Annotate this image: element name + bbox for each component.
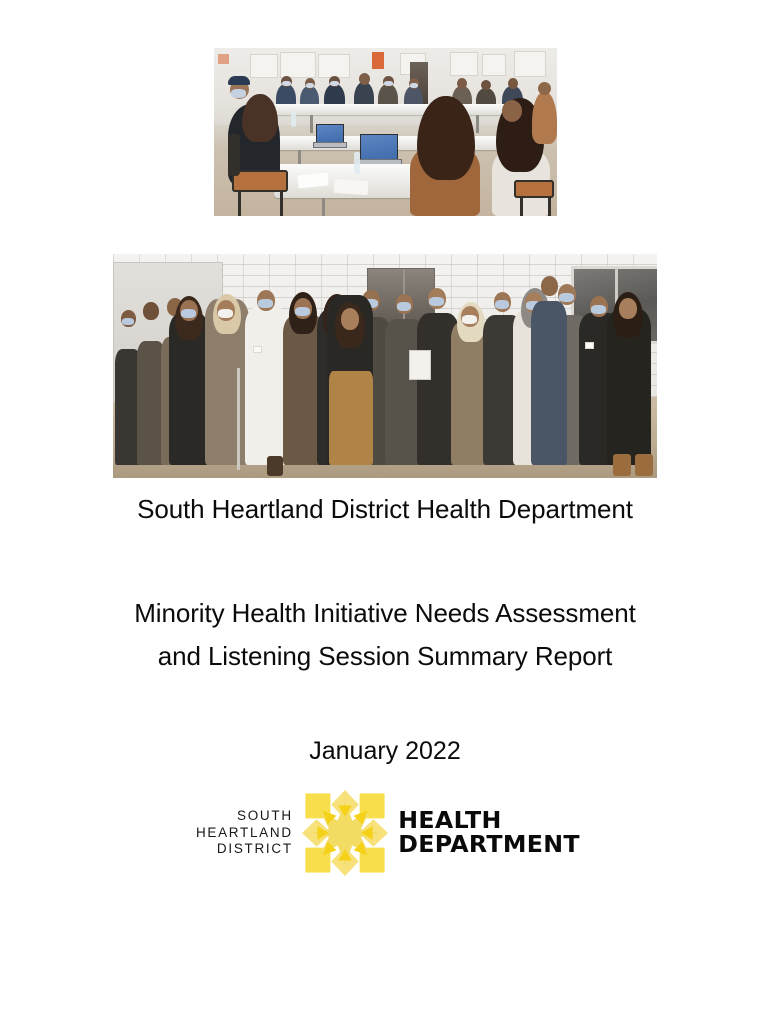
participant-head bbox=[457, 78, 467, 89]
organization-logo: SOUTH HEARTLAND DISTRICT bbox=[0, 786, 770, 880]
wall-poster bbox=[372, 52, 384, 69]
paper bbox=[334, 179, 369, 195]
participant-head bbox=[341, 308, 359, 330]
participant-head bbox=[143, 302, 159, 320]
south-heartland-starburst-logo-icon bbox=[302, 789, 388, 877]
page-title: South Heartland District Health Departme… bbox=[0, 492, 770, 526]
laptop-screen bbox=[360, 134, 398, 161]
participant-head bbox=[538, 82, 551, 95]
face-mask bbox=[181, 309, 196, 318]
cap bbox=[228, 76, 250, 85]
whiteboard bbox=[482, 54, 506, 76]
participant-head bbox=[619, 298, 637, 319]
name-badge bbox=[253, 346, 262, 353]
chair-back bbox=[228, 134, 240, 176]
report-title-line-1: Minority Health Initiative Needs Assessm… bbox=[0, 592, 770, 635]
face-mask bbox=[410, 83, 418, 88]
report-title: Minority Health Initiative Needs Assessm… bbox=[0, 592, 770, 678]
participant bbox=[531, 301, 567, 465]
boot bbox=[635, 454, 653, 476]
report-date: January 2022 bbox=[0, 735, 770, 768]
wall-poster bbox=[218, 54, 229, 64]
participant bbox=[532, 92, 557, 144]
framed-certificate bbox=[409, 350, 431, 380]
logo-line-south: SOUTH bbox=[196, 808, 293, 825]
laptop-base bbox=[313, 142, 347, 148]
document-page: South Heartland District Health Departme… bbox=[0, 0, 770, 1024]
face-mask bbox=[559, 293, 574, 302]
face-mask bbox=[397, 302, 411, 311]
face-mask bbox=[384, 81, 393, 86]
whiteboard bbox=[318, 54, 350, 78]
listening-session-photo bbox=[214, 48, 557, 216]
whiteboard bbox=[280, 52, 316, 78]
whiteboard bbox=[250, 54, 278, 78]
chair-leg bbox=[280, 192, 283, 216]
face-mask bbox=[282, 81, 291, 86]
water-bottle bbox=[354, 152, 360, 174]
boot bbox=[267, 456, 283, 476]
whiteboard bbox=[450, 52, 478, 76]
group-photo bbox=[113, 254, 657, 478]
logo-wordmark-south-heartland-district: SOUTH HEARTLAND DISTRICT bbox=[196, 808, 302, 858]
face-mask bbox=[306, 83, 314, 88]
participant-hair bbox=[242, 94, 278, 142]
face-mask bbox=[495, 300, 509, 309]
chair-leg bbox=[238, 192, 241, 216]
participant-head bbox=[508, 78, 518, 89]
table-leg bbox=[310, 115, 313, 133]
face-mask bbox=[462, 315, 477, 324]
boot bbox=[613, 454, 631, 476]
face-mask bbox=[591, 305, 606, 314]
chair-leg bbox=[520, 198, 523, 216]
logo-line-health: HEALTH bbox=[398, 809, 580, 833]
walking-cane bbox=[237, 368, 240, 470]
report-title-line-2: and Listening Session Summary Report bbox=[0, 635, 770, 678]
face-mask bbox=[258, 299, 273, 308]
table-leg bbox=[322, 198, 325, 216]
water-bottle bbox=[291, 110, 296, 127]
table-leg bbox=[476, 115, 479, 133]
whiteboard bbox=[514, 51, 546, 77]
logo-wordmark-health-department: HEALTH DEPARTMENT bbox=[388, 809, 580, 857]
face-mask bbox=[231, 89, 246, 98]
face-mask bbox=[295, 307, 310, 316]
logo-line-heartland: HEARTLAND bbox=[196, 825, 293, 842]
chair bbox=[232, 170, 288, 192]
name-badge bbox=[585, 342, 594, 349]
participant-head bbox=[541, 276, 558, 296]
chair-leg bbox=[548, 198, 551, 216]
face-mask bbox=[330, 81, 339, 86]
conference-table bbox=[266, 104, 534, 115]
logo-line-department: DEPARTMENT bbox=[398, 833, 580, 857]
participant-head bbox=[481, 80, 491, 90]
participant-center bbox=[329, 371, 373, 465]
laptop-screen bbox=[316, 124, 344, 144]
participant-head bbox=[359, 73, 370, 85]
face-mask bbox=[429, 297, 444, 306]
logo-line-district: DISTRICT bbox=[196, 841, 293, 858]
chair bbox=[514, 180, 554, 198]
face-mask bbox=[122, 318, 134, 325]
participant-head bbox=[502, 100, 522, 122]
face-mask bbox=[218, 309, 233, 318]
